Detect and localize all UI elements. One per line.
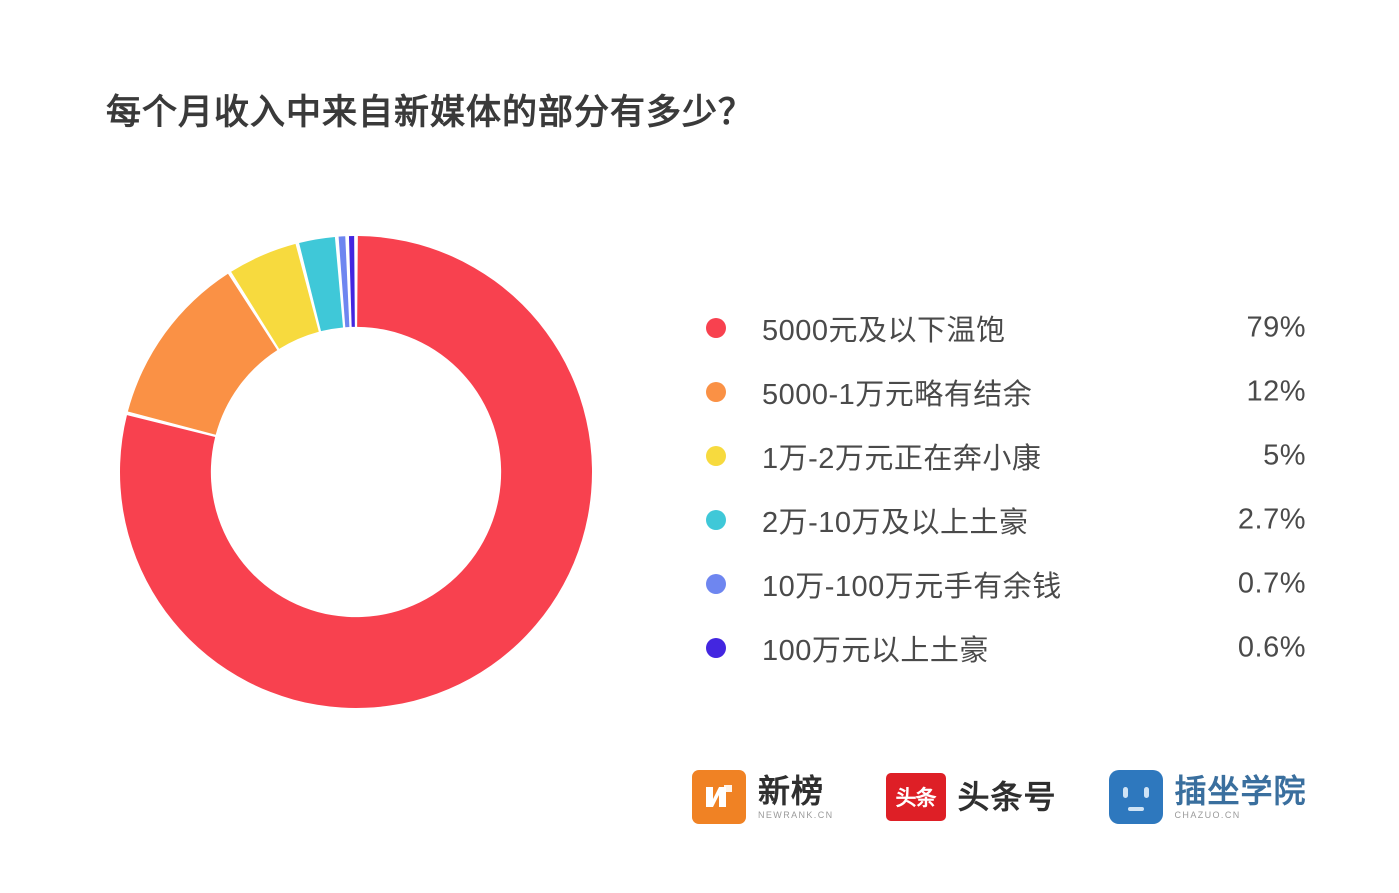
- page-title: 每个月收入中来自新媒体的部分有多少？: [106, 84, 754, 135]
- logo-toutiaohao: 头条 头条号: [886, 773, 1057, 821]
- logo-newrank: 新榜 NEWRANK.CN: [692, 770, 834, 824]
- donut-slice-group: [120, 236, 592, 708]
- chazuo-eye-right-icon: [1144, 787, 1149, 798]
- newrank-logo-icon: [692, 770, 746, 824]
- newrank-name-cn: 新榜: [758, 775, 834, 807]
- chazuo-logo-icon: [1109, 770, 1163, 824]
- legend-value-0: 79%: [1246, 312, 1306, 345]
- footer-logo-bar: 新榜 NEWRANK.CN 头条 头条号 插坐学院 CHAZUO.CN: [692, 770, 1307, 824]
- legend-color-dot-icon-2: [706, 446, 726, 466]
- logo-chazuo: 插坐学院 CHAZUO.CN: [1109, 770, 1307, 824]
- chazuo-name-cn: 插坐学院: [1175, 775, 1307, 807]
- legend-label-3: 2万-10万及以上土豪: [762, 499, 1029, 541]
- legend-item-1[interactable]: 5000-1万元略有结余 12%: [706, 360, 1306, 424]
- legend-label-2: 1万-2万元正在奔小康: [762, 435, 1041, 477]
- legend-item-4[interactable]: 10万-100万元手有余钱 0.7%: [706, 552, 1306, 616]
- legend-item-0[interactable]: 5000元及以下温饱 79%: [706, 296, 1306, 360]
- newrank-name-en: NEWRANK.CN: [758, 811, 834, 820]
- legend-item-5[interactable]: 100万元以上土豪 0.6%: [706, 616, 1306, 680]
- legend-item-2[interactable]: 1万-2万元正在奔小康 5%: [706, 424, 1306, 488]
- legend-color-dot-icon-0: [706, 318, 726, 338]
- legend-color-dot-icon-1: [706, 382, 726, 402]
- legend-label-1: 5000-1万元略有结余: [762, 371, 1032, 413]
- legend-color-dot-icon-5: [706, 638, 726, 658]
- legend-value-4: 0.7%: [1238, 568, 1306, 601]
- legend-label-4: 10万-100万元手有余钱: [762, 563, 1062, 605]
- chazuo-eye-left-icon: [1123, 787, 1128, 798]
- legend-color-dot-icon-3: [706, 510, 726, 530]
- donut-slice-5[interactable]: [349, 236, 355, 327]
- chart-legend: 5000元及以下温饱 79% 5000-1万元略有结余 12% 1万-2万元正在…: [706, 296, 1306, 680]
- legend-label-5: 100万元以上土豪: [762, 627, 989, 669]
- legend-item-3[interactable]: 2万-10万及以上土豪 2.7%: [706, 488, 1306, 552]
- legend-value-5: 0.6%: [1238, 632, 1306, 665]
- chazuo-mouth-icon: [1128, 807, 1144, 811]
- toutiao-logo-icon: 头条: [886, 773, 946, 821]
- donut-chart: [118, 234, 594, 710]
- legend-value-3: 2.7%: [1238, 504, 1306, 537]
- chazuo-logo-text: 插坐学院 CHAZUO.CN: [1175, 775, 1307, 820]
- chazuo-name-en: CHAZUO.CN: [1175, 811, 1307, 820]
- legend-color-dot-icon-4: [706, 574, 726, 594]
- legend-label-0: 5000元及以下温饱: [762, 307, 1006, 349]
- toutiaohao-name-cn: 头条号: [958, 781, 1057, 813]
- donut-chart-svg: [118, 234, 594, 710]
- legend-value-1: 12%: [1246, 376, 1306, 409]
- newrank-logo-text: 新榜 NEWRANK.CN: [758, 775, 834, 820]
- legend-value-2: 5%: [1263, 440, 1306, 473]
- toutiaohao-logo-text: 头条号: [958, 781, 1057, 813]
